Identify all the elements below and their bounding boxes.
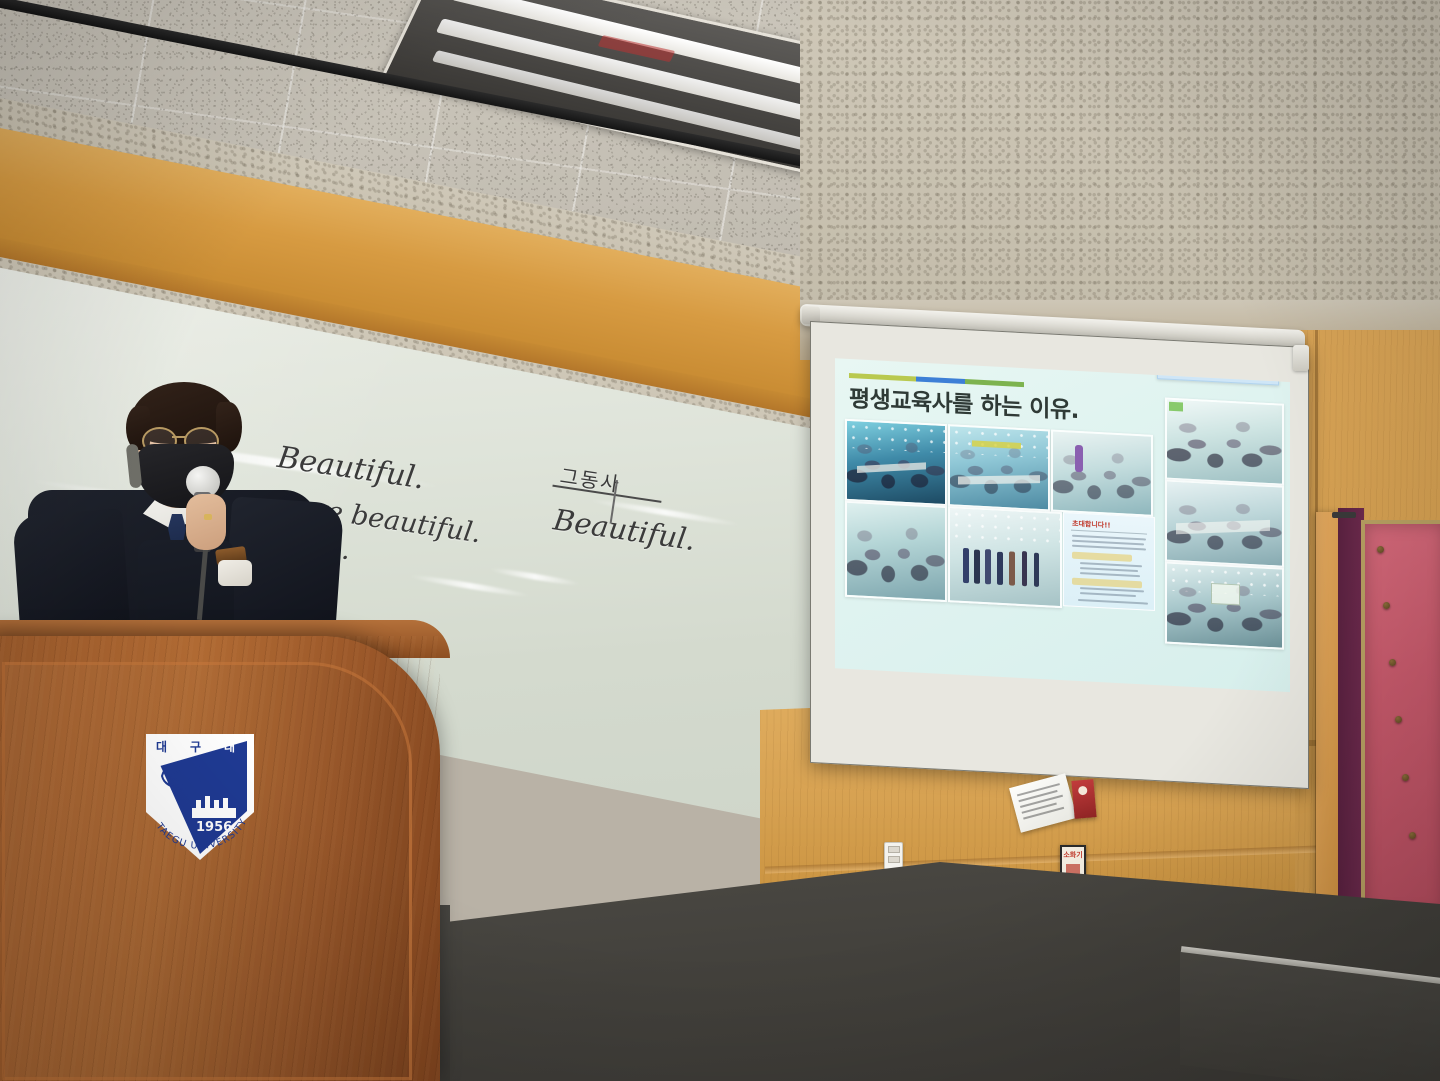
slide-flyer: 초대합니다!!	[1063, 512, 1155, 611]
university-emblem: 대 구 대 1956	[146, 734, 254, 860]
presenter-hand	[186, 494, 226, 550]
projected-slide: 평생교육사를 하는 이유. 추가 기능에 액세스하려면 [도구] [서명] 및 …	[835, 358, 1290, 692]
wall-outlet[interactable]	[884, 842, 903, 870]
slide-photo-7	[1165, 480, 1284, 568]
emblem-korean-3: 대	[224, 738, 235, 755]
slide-photo-4	[845, 501, 947, 602]
presentation-tooltip[interactable]: 추가 기능에 액세스하려면 [도구] [서명] 및 [주석]을 클릭합니다.	[1157, 358, 1279, 385]
slide-title: 평생교육사를 하는 이유.	[849, 379, 1079, 425]
door-hinge	[1332, 512, 1356, 518]
door-padded-panel[interactable]	[1361, 520, 1440, 918]
fire-alarm-box[interactable]	[1071, 779, 1096, 819]
projector-screen: 평생교육사를 하는 이유. 추가 기능에 액세스하려면 [도구] [서명] 및 …	[810, 321, 1309, 789]
slide-photo-1	[845, 419, 947, 506]
slide-photo-8	[1165, 562, 1284, 650]
slide-photo-6	[1165, 398, 1284, 486]
podium[interactable]: 대 구 대 1956	[0, 636, 440, 1081]
slide-photo-5	[948, 506, 1062, 608]
lecture-hall-photo: Beautiful. More beautiful. Most · 그동사 Be…	[0, 0, 1440, 1081]
shirt-cuff	[218, 560, 252, 586]
motion-sensor	[1293, 345, 1309, 371]
ring	[204, 514, 212, 520]
emblem-korean-1: 대	[156, 738, 167, 755]
emblem-university-name: TAEGU UNIVERSITY	[148, 812, 252, 858]
slide-photo-3	[1051, 430, 1153, 517]
lightbulb-icon	[1162, 359, 1170, 375]
flyer-heading: 초대합니다!!	[1072, 519, 1111, 531]
eyeglasses-bridge	[172, 436, 185, 438]
tooltip-text: 추가 기능에 액세스하려면 [도구] [서명] 및 [주석]을 클릭합니다.	[1173, 360, 1274, 381]
tiger-head-icon	[158, 756, 212, 798]
slide-photo-2	[948, 424, 1050, 511]
fire-extinguisher-label: 소화기	[1062, 850, 1084, 860]
emblem-korean-2: 구	[190, 738, 201, 755]
svg-text:TAEGU UNIVERSITY: TAEGU UNIVERSITY	[153, 817, 250, 852]
